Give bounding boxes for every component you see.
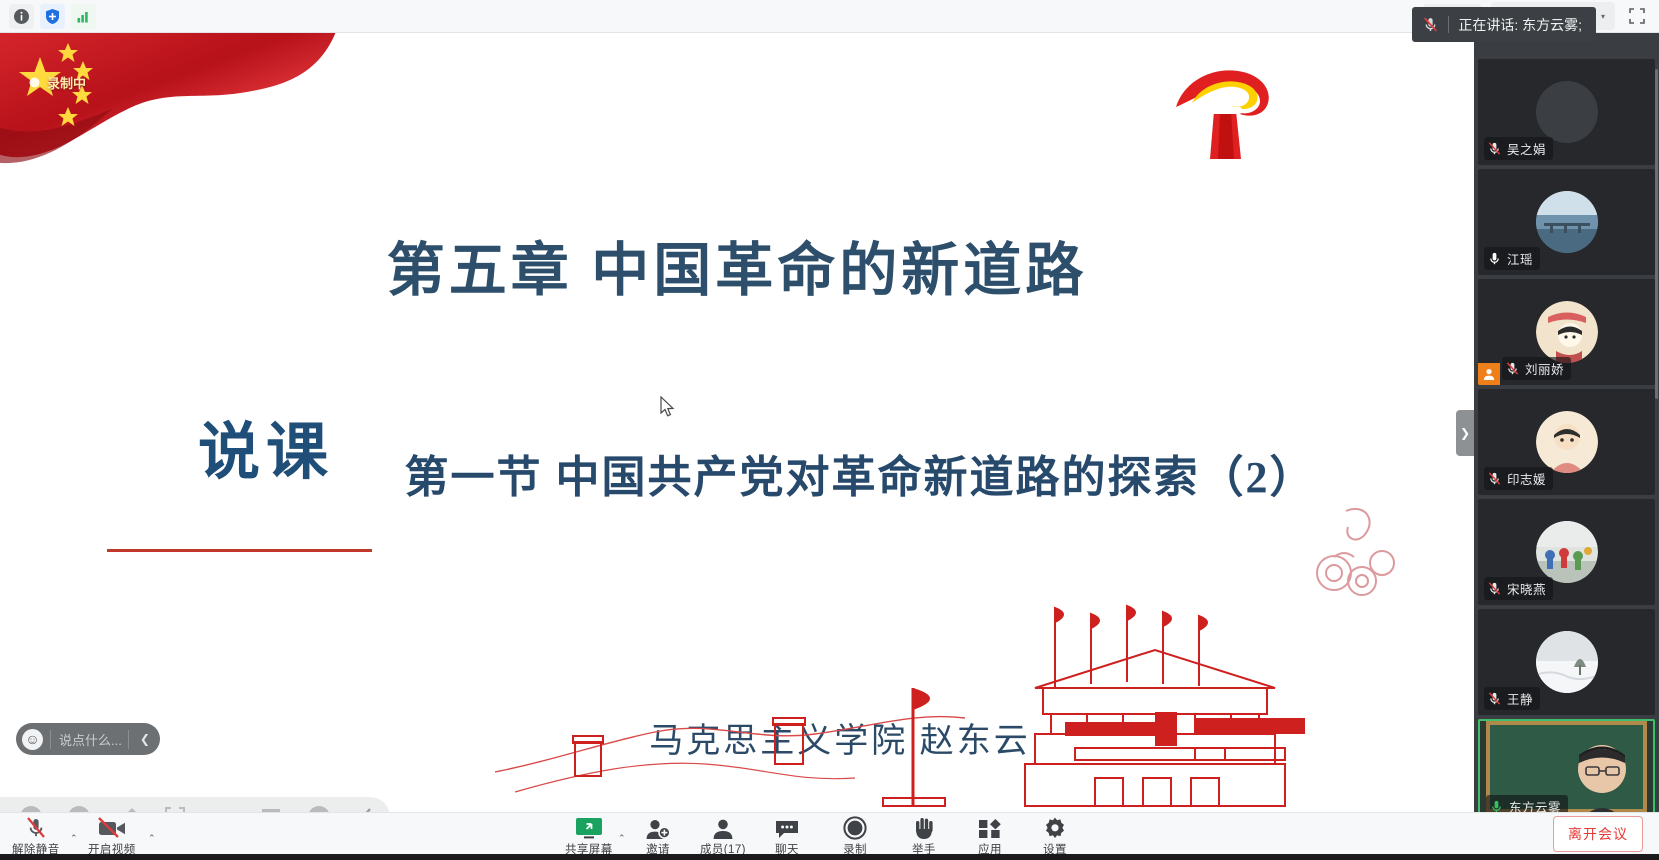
avatar xyxy=(1536,191,1598,253)
record-button[interactable]: 录制 xyxy=(843,818,867,857)
video-options-caret[interactable]: ⌃ xyxy=(148,833,156,844)
avatar xyxy=(1536,411,1598,473)
raise-hand-button[interactable]: 举手 xyxy=(912,818,936,857)
mic-off-icon xyxy=(1487,691,1502,706)
slide-divider-rule xyxy=(107,549,372,552)
participant-tile[interactable]: 宋晓燕 xyxy=(1478,499,1655,605)
avatar xyxy=(1536,521,1598,583)
settings-button[interactable]: 设置 xyxy=(1043,818,1067,857)
shield-icon[interactable] xyxy=(40,4,65,29)
avatar xyxy=(1536,301,1598,363)
share-screen-button[interactable]: 共享屏幕 xyxy=(565,818,613,857)
mic-off-icon xyxy=(1487,141,1502,156)
participants-button[interactable]: 成员(17) xyxy=(700,818,746,857)
leave-meeting-button[interactable]: 离开会议 xyxy=(1553,816,1643,852)
chat-button[interactable]: 聊天 xyxy=(775,818,799,857)
more-options-icon[interactable] xyxy=(306,804,332,812)
share-screen-icon xyxy=(575,818,603,840)
chinese-flag-graphic xyxy=(0,33,342,189)
audio-options-caret[interactable]: ⌃ xyxy=(70,833,78,844)
mic-off-icon xyxy=(23,818,49,840)
recording-label: 录制中 xyxy=(47,73,86,92)
participant-nameplate: 印志媛 xyxy=(1484,467,1553,490)
collapse-toolbar-icon[interactable] xyxy=(354,804,380,812)
speaking-tooltip-text: 正在讲话: 东方云雾; xyxy=(1458,15,1582,35)
participant-tile[interactable]: 江瑶 xyxy=(1478,169,1655,275)
raise-hand-icon xyxy=(913,818,935,840)
video-camera-icon[interactable] xyxy=(210,804,236,812)
share-options-caret[interactable]: ⌃ xyxy=(618,833,626,844)
record-dot-icon xyxy=(28,76,41,89)
quick-chat-input[interactable]: ☺ 说点什么... ❮ xyxy=(16,723,160,755)
participant-tile-active-speaker[interactable]: 东方云雾 xyxy=(1478,719,1655,812)
slide-title: 第五章 中国革命的新道路 xyxy=(0,223,1474,307)
participant-tile[interactable]: 吴之娟 xyxy=(1478,59,1655,165)
participant-nameplate: 宋晓燕 xyxy=(1484,577,1553,600)
mic-off-icon xyxy=(1422,16,1439,33)
chevron-down-icon: ▾ xyxy=(1601,12,1605,21)
participant-nameplate: 江瑶 xyxy=(1484,247,1540,270)
apps-icon xyxy=(978,818,1002,840)
speaking-tooltip: 正在讲话: 东方云雾; xyxy=(1412,7,1596,42)
apps-button[interactable]: 应用 xyxy=(978,818,1002,857)
invite-icon xyxy=(645,818,671,840)
comment-icon[interactable] xyxy=(258,804,284,812)
video-off-icon xyxy=(97,818,127,840)
emoji-icon[interactable]: ☺ xyxy=(22,729,43,750)
top-bar-left-icons xyxy=(0,4,96,29)
collapse-strip-button[interactable]: ❯ xyxy=(1456,410,1474,456)
participant-tile[interactable]: 王静 xyxy=(1478,609,1655,715)
next-slide-button[interactable] xyxy=(66,804,92,812)
mic-off-icon xyxy=(1487,471,1502,486)
gear-icon xyxy=(1043,818,1067,840)
slide-badge-text: 说课 xyxy=(148,401,384,491)
unmute-button[interactable]: 解除静音 xyxy=(12,818,60,857)
participant-name: 宋晓燕 xyxy=(1507,579,1546,598)
signal-bars-icon[interactable] xyxy=(71,4,96,29)
participants-strip[interactable]: ⌃ 吴之娟 江瑶 xyxy=(1474,33,1659,812)
host-badge xyxy=(1478,363,1500,385)
chat-icon xyxy=(775,818,799,840)
info-icon[interactable] xyxy=(9,4,34,29)
spotlight-icon[interactable] xyxy=(162,804,188,812)
tooltip-divider xyxy=(1448,16,1449,33)
mic-off-icon xyxy=(1505,361,1520,376)
meeting-control-bar: 解除静音 ⌃ 开启视频 ⌃ 共享屏幕 ⌃ 邀请 成员(1 xyxy=(0,812,1659,860)
participant-nameplate: 刘丽娇 xyxy=(1502,357,1571,380)
invite-button[interactable]: 邀请 xyxy=(645,818,671,857)
torch-graphic xyxy=(1168,55,1278,165)
participant-nameplate: 东方云雾 xyxy=(1486,795,1568,812)
mic-on-active-icon xyxy=(1489,799,1504,812)
participant-nameplate: 王静 xyxy=(1484,687,1540,710)
avatar xyxy=(1536,631,1598,693)
prev-slide-button[interactable] xyxy=(18,804,44,812)
participant-name: 印志媛 xyxy=(1507,469,1546,488)
participant-name: 江瑶 xyxy=(1507,249,1533,268)
strip-scrollbar[interactable] xyxy=(1655,69,1658,399)
record-icon xyxy=(843,818,867,840)
meeting-window: 32:24 演讲者视图 ▾ xyxy=(0,0,1659,860)
participant-name: 刘丽娇 xyxy=(1525,359,1564,378)
start-video-button[interactable]: 开启视频 xyxy=(88,818,136,857)
slide-subtitle: 第一节 中国共产党对革命新道路的探索（2） xyxy=(360,441,1360,505)
chat-placeholder[interactable]: 说点什么... xyxy=(50,730,129,749)
participant-tile[interactable]: 刘丽娇 xyxy=(1478,279,1655,385)
participants-icon xyxy=(711,818,735,840)
participant-name: 王静 xyxy=(1507,689,1533,708)
fullscreen-icon[interactable] xyxy=(1624,3,1650,29)
mic-off-icon xyxy=(1487,581,1502,596)
os-taskbar-edge xyxy=(0,854,1659,860)
shared-screen-stage: 录制中 第五章 中国革命的新道路 说课 第一节 中国共产党对革命新道路的探索（2 xyxy=(0,33,1474,812)
chevron-left-icon[interactable]: ❮ xyxy=(136,732,154,746)
annotate-pen-icon[interactable] xyxy=(114,804,140,812)
participant-name: 吴之娟 xyxy=(1507,139,1546,158)
mouse-cursor xyxy=(660,396,676,418)
participant-nameplate: 吴之娟 xyxy=(1484,137,1553,160)
recording-indicator: 录制中 xyxy=(28,73,86,92)
avatar xyxy=(1536,81,1598,143)
mic-on-icon xyxy=(1487,251,1502,266)
annotation-toolbar xyxy=(0,797,390,812)
participant-tile[interactable]: 印志媛 xyxy=(1478,389,1655,495)
cloud-ornament-graphic xyxy=(1304,493,1414,613)
participant-name: 东方云雾 xyxy=(1509,797,1561,812)
tiananmen-graphic xyxy=(495,592,1315,812)
top-bar: 32:24 演讲者视图 ▾ xyxy=(0,0,1659,33)
